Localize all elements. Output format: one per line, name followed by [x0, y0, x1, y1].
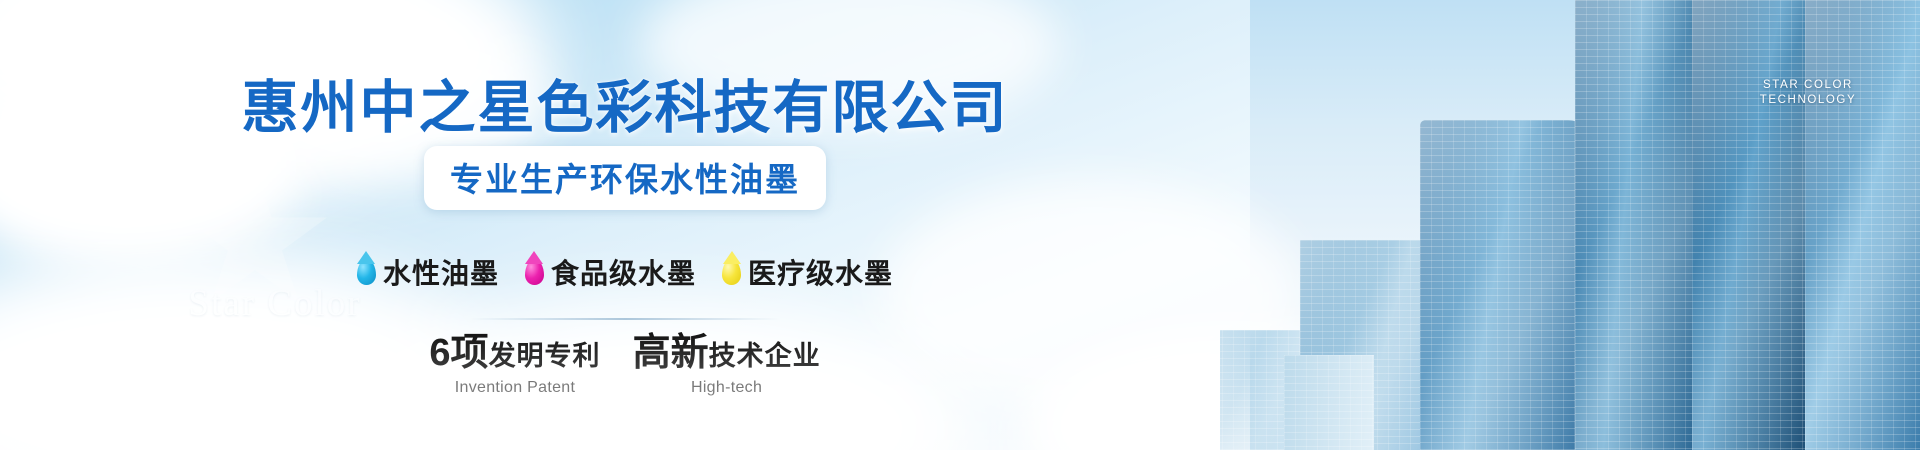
credential-badges: 6项发明专利 Invention Patent 高新技术企业 High-tech [0, 334, 1250, 397]
ink-type-label: 医疗级水墨 [748, 252, 893, 292]
ink-type-list: 水性油墨 食品级水墨 医疗级水墨 [0, 252, 1250, 292]
badge-highlight: 6项 [429, 332, 488, 374]
badge-invention-patent: 6项发明专利 Invention Patent [429, 334, 600, 397]
building [1420, 120, 1590, 450]
tagline-pill: 专业生产环保水性油墨 [424, 146, 826, 210]
building [1692, 0, 1812, 450]
building [1805, 0, 1920, 450]
badge-chinese-line: 高新技术企业 [633, 334, 821, 372]
tag-line-1: STAR COLOR [1748, 78, 1868, 93]
badge-subtext: 技术企业 [709, 341, 821, 371]
star-color-technology-tag: STAR COLOR TECHNOLOGY [1748, 78, 1868, 108]
badge-high-tech: 高新技术企业 High-tech [633, 334, 821, 397]
badge-highlight: 高新 [633, 332, 709, 374]
ink-type-label: 食品级水墨 [551, 252, 696, 292]
building [1575, 0, 1705, 450]
page-title: 惠州中之星色彩科技有限公司 [0, 62, 1250, 144]
banner-content: 惠州中之星色彩科技有限公司 专业生产环保水性油墨 水性油墨 食品级水墨 医疗级水… [0, 0, 1250, 450]
badge-english-label: High-tech [633, 379, 821, 397]
badge-english-label: Invention Patent [429, 379, 600, 397]
city-skyline-photo: STAR COLOR TECHNOLOGY [1220, 0, 1920, 450]
tagline-text: 专业生产环保水性油墨 [450, 153, 800, 201]
tag-line-2: TECHNOLOGY [1748, 93, 1868, 108]
list-item: 医疗级水墨 [722, 252, 893, 292]
building [1284, 355, 1374, 450]
badge-chinese-line: 6项发明专利 [429, 334, 600, 372]
water-drop-icon [357, 259, 376, 285]
badge-subtext: 发明专利 [489, 341, 601, 371]
ink-type-label: 水性油墨 [383, 252, 499, 292]
water-drop-icon [525, 259, 544, 285]
water-drop-icon [722, 259, 741, 285]
list-item: 食品级水墨 [525, 252, 696, 292]
divider [470, 318, 780, 320]
list-item: 水性油墨 [357, 252, 499, 292]
company-hero-banner: Star Color STAR COLOR TECHNOLOGY 惠州中之星色彩… [0, 0, 1920, 450]
